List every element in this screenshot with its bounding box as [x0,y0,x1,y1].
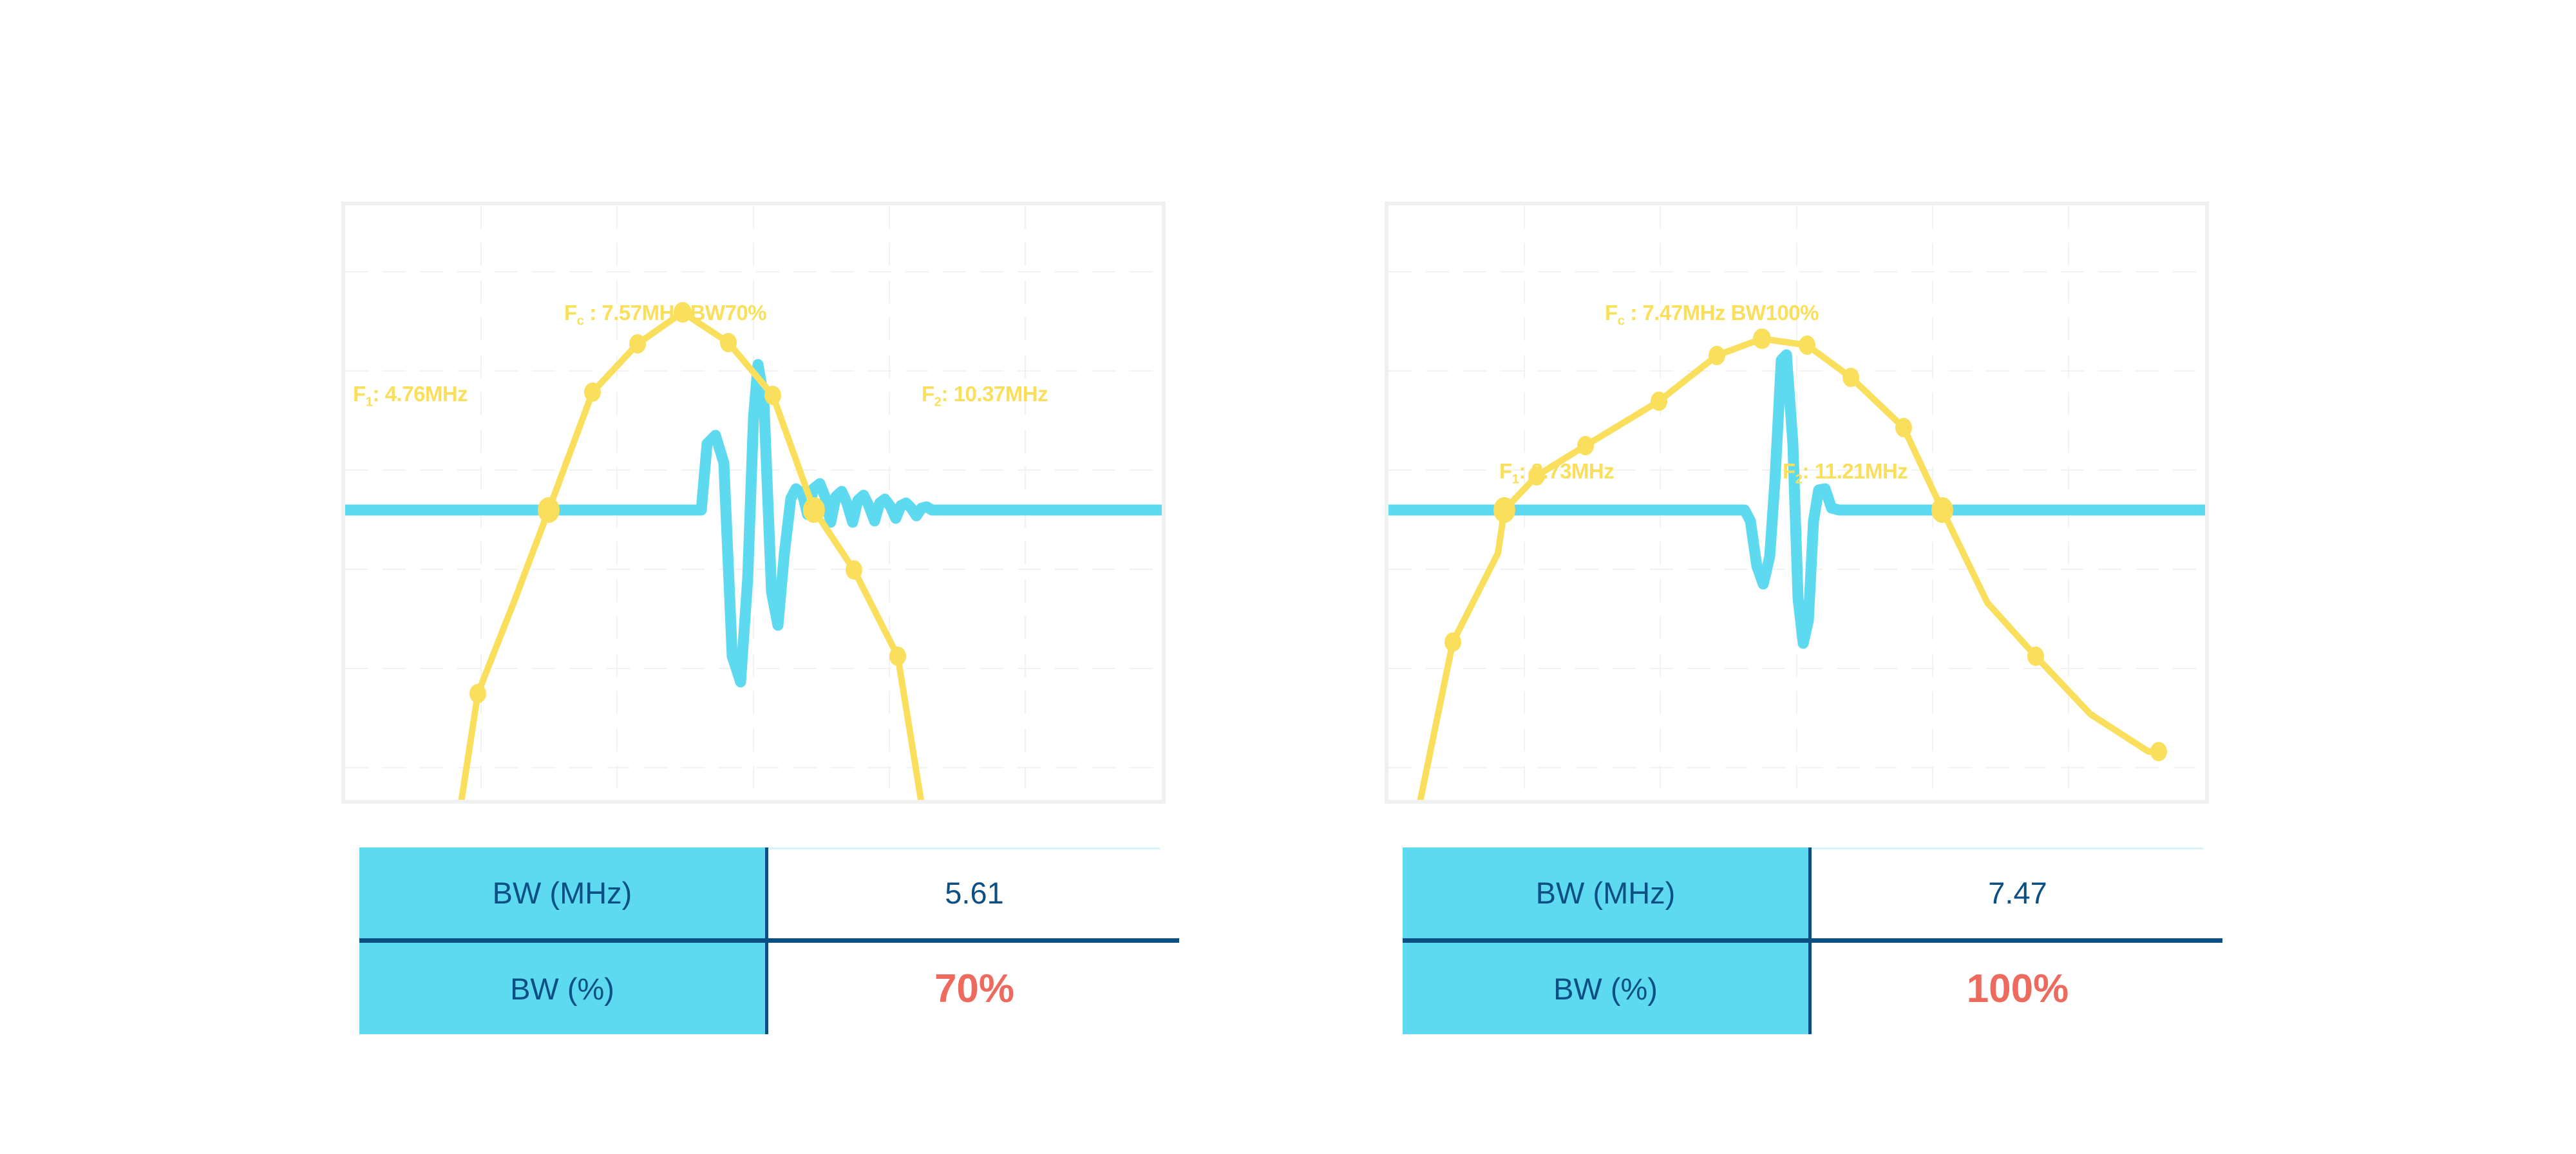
spectrum-plot-right [1388,205,2205,800]
annotation-fc-text-right: : 7.47MHz BW100% [1625,301,1819,325]
annotation-f1-left: F1: 4.76MHz [353,383,468,409]
annotation-f2-sub-left: 2 [934,394,942,409]
chart-panel-left: Fc : 7.57MHz BW70% F1: 4.76MHz F2: 10.37… [341,202,1166,804]
annotation-fc-prefix-right: F [1605,301,1618,325]
bw-pct-value-left: 70% [934,966,1014,1012]
bw-pct-value-cell-right: 100% [1812,943,2224,1034]
annotation-f1-sub-right: 1 [1512,471,1519,486]
annotation-fc-text-left: : 7.57MHz BW70% [584,301,767,325]
panel-group-right: Fc : 7.47MHz BW100% F1: 3.73MHz F2: 11.2… [1365,0,2267,1154]
annotation-fc-left: Fc : 7.57MHz BW70% [564,302,766,328]
bw-pct-value-right: 100% [1967,966,2069,1012]
bw-pct-label-left: BW (%) [510,971,614,1007]
annotation-f2-sub-right: 2 [1795,471,1803,486]
table-row: BW (%) [1403,943,1808,1034]
annotation-fc-right: Fc : 7.47MHz BW100% [1605,302,1819,328]
plot-area-left [345,205,1162,800]
annotation-f1-right: F1: 3.73MHz [1499,460,1614,486]
spectrum-plot-left [345,205,1162,800]
table-row: BW (MHz) [359,847,765,938]
bw-pct-value-cell-left: 70% [768,943,1180,1034]
bw-table-right: BW (MHz) 7.47 BW (%) 100% [1403,847,2224,1034]
annotation-f2-left: F2: 10.37MHz [922,383,1048,409]
bw-table-horizontal-rule-left [359,938,1179,943]
bw-mhz-label-left: BW (MHz) [493,875,632,911]
bw-table-left: BW (MHz) 5.61 BW (%) 70% [359,847,1180,1034]
bw-mhz-value-left: 5.61 [945,875,1003,911]
table-row: BW (%) [359,943,765,1034]
annotation-f2-text-right: : 11.21MHz [1803,459,1908,483]
bw-pct-label-right: BW (%) [1553,971,1658,1007]
annotation-fc-sub-left: c [577,313,584,328]
annotation-f1-prefix-right: F [1499,459,1512,483]
bw-mhz-value-right: 7.47 [1988,875,2047,911]
annotation-f1-sub-left: 1 [366,394,373,409]
annotation-f2-prefix-left: F [922,382,934,406]
bw-mhz-label-right: BW (MHz) [1536,875,1676,911]
annotation-fc-prefix-left: F [564,301,577,325]
plot-area-right [1388,205,2205,800]
bw-mhz-value-cell-left: 5.61 [768,847,1180,938]
spectrum-curve-left [458,312,925,800]
annotation-f2-text-left: : 10.37MHz [942,382,1048,406]
annotation-fc-sub-right: c [1618,313,1625,328]
annotation-f1-text-right: : 3.73MHz [1519,459,1615,483]
annotation-f2-right: F2: 11.21MHz [1783,460,1908,486]
spectrum-markers-right [1444,328,2167,761]
annotation-f1-prefix-left: F [353,382,366,406]
annotation-f2-prefix-right: F [1783,459,1795,483]
bw-mhz-value-cell-right: 7.47 [1812,847,2224,938]
panel-group-left: Fc : 7.57MHz BW70% F1: 4.76MHz F2: 10.37… [322,0,1224,1154]
chart-panel-right: Fc : 7.47MHz BW100% F1: 3.73MHz F2: 11.2… [1385,202,2209,804]
bw-table-horizontal-rule-right [1403,938,2222,943]
annotation-f1-text-left: : 4.76MHz [373,382,468,406]
table-row: BW (MHz) [1403,847,1808,938]
spectrum-markers-left [469,302,906,703]
figure-root: Fc : 7.57MHz BW70% F1: 4.76MHz F2: 10.37… [0,0,2576,1154]
